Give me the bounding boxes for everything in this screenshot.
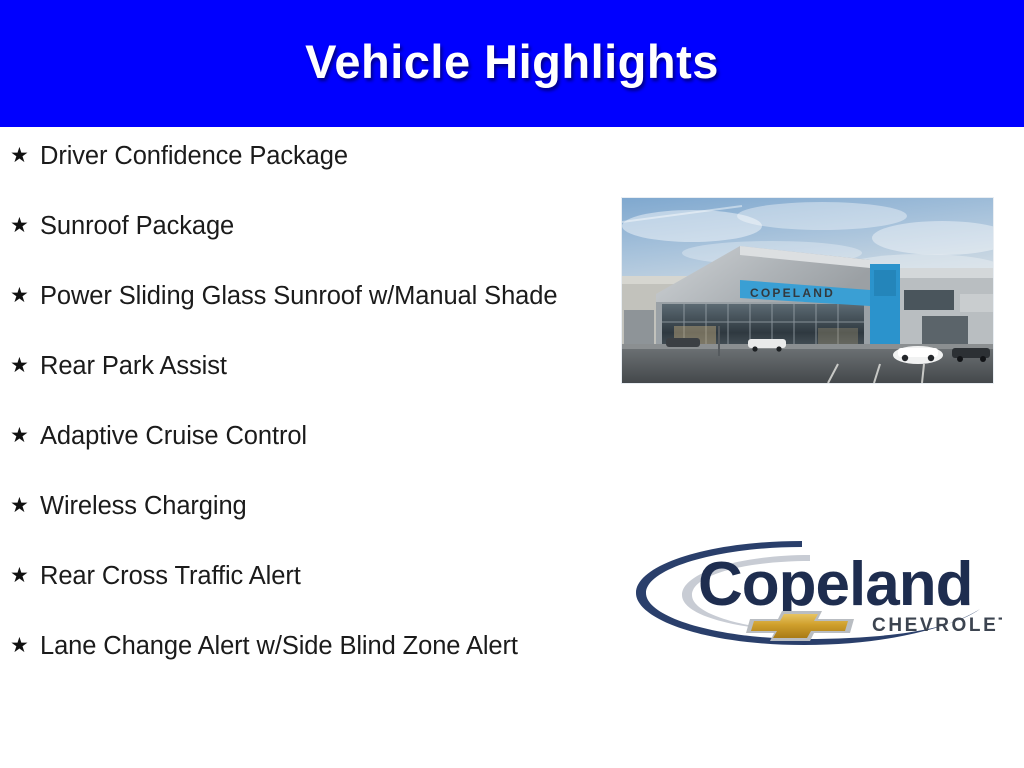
- logo-sub-text: CHEVROLET: [872, 615, 1002, 636]
- parked-car: [666, 338, 700, 347]
- highlight-label: Sunroof Package: [40, 209, 596, 243]
- star-bullet-icon: ★: [10, 419, 40, 453]
- page-title: Vehicle Highlights: [305, 34, 719, 89]
- highlight-label: Adaptive Cruise Control: [40, 419, 596, 453]
- building-sign-text: COPELAND: [750, 286, 835, 300]
- star-bullet-icon: ★: [10, 209, 40, 243]
- logo-brand-text: Copeland: [698, 550, 972, 619]
- highlight-label: Power Sliding Glass Sunroof w/Manual Sha…: [40, 279, 596, 313]
- highlight-label: Wireless Charging: [40, 489, 596, 523]
- list-item: ★ Rear Cross Traffic Alert: [0, 559, 596, 597]
- highlight-label: Lane Change Alert w/Side Blind Zone Aler…: [40, 629, 596, 663]
- dealership-photo-graphic: COPELAND: [622, 198, 993, 383]
- star-bullet-icon: ★: [10, 279, 40, 313]
- copeland-logo-graphic: Copeland CHEVROLET: [620, 527, 1002, 657]
- slide-header-banner: Vehicle Highlights: [0, 0, 1024, 127]
- star-bullet-icon: ★: [10, 629, 40, 663]
- list-item: ★ Wireless Charging: [0, 489, 596, 527]
- star-bullet-icon: ★: [10, 489, 40, 523]
- highlight-label: Rear Cross Traffic Alert: [40, 559, 596, 593]
- star-bullet-icon: ★: [10, 559, 40, 593]
- vehicle-highlights-list: ★ Driver Confidence Package ★ Sunroof Pa…: [0, 139, 596, 699]
- copeland-chevrolet-logo: Copeland CHEVROLET: [620, 527, 1002, 657]
- star-bullet-icon: ★: [10, 139, 40, 173]
- star-bullet-icon: ★: [10, 349, 40, 383]
- list-item: ★ Rear Park Assist: [0, 349, 596, 387]
- highlight-label: Rear Park Assist: [40, 349, 596, 383]
- highlight-label: Driver Confidence Package: [40, 139, 596, 173]
- list-item: ★ Sunroof Package: [0, 209, 596, 247]
- parked-car: [893, 346, 943, 364]
- list-item: ★ Driver Confidence Package: [0, 139, 596, 177]
- dealership-exterior-photo: COPELAND: [622, 198, 993, 383]
- list-item: ★ Power Sliding Glass Sunroof w/Manual S…: [0, 279, 596, 317]
- list-item: ★ Adaptive Cruise Control: [0, 419, 596, 457]
- list-item: ★ Lane Change Alert w/Side Blind Zone Al…: [0, 629, 596, 667]
- slide-body: ★ Driver Confidence Package ★ Sunroof Pa…: [0, 127, 1024, 768]
